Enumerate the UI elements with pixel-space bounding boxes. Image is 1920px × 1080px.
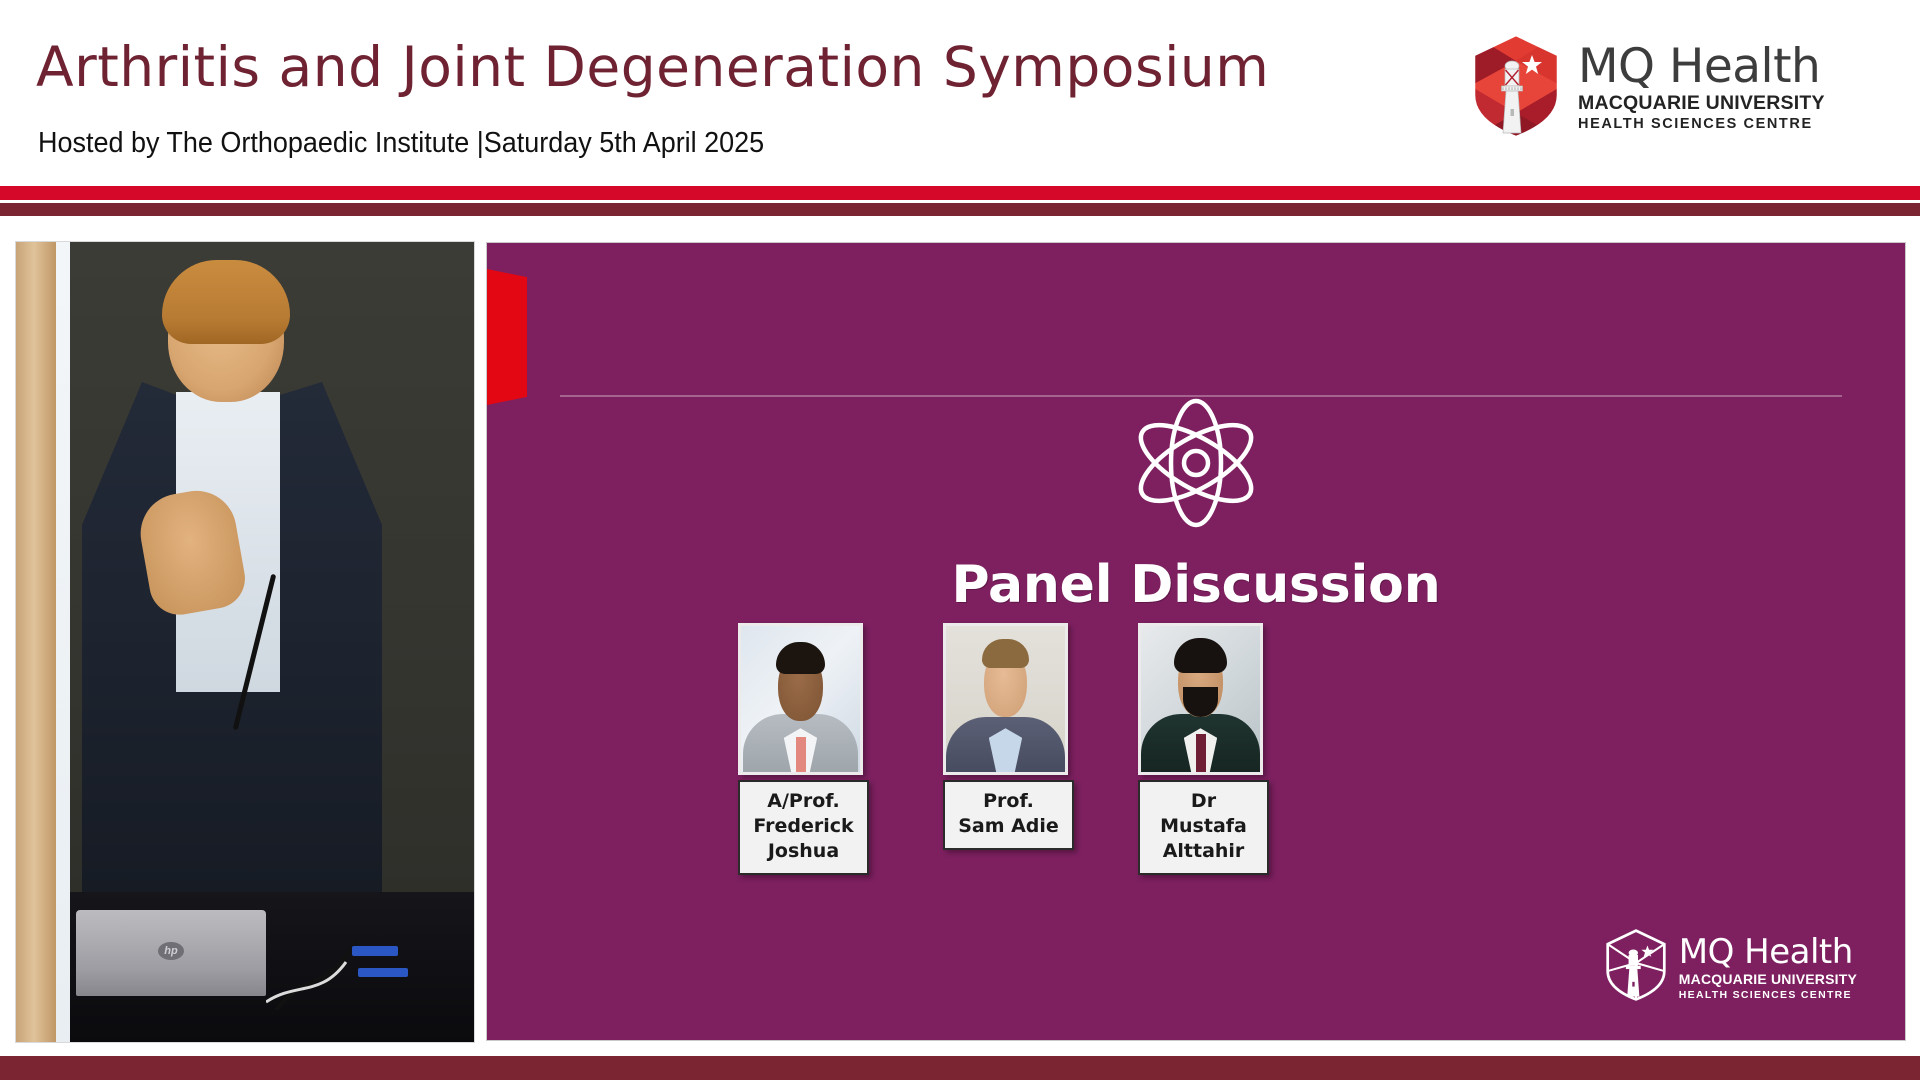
- mq-health-logo-line3: HEALTH SCIENCES CENTRE: [1679, 988, 1857, 1002]
- mq-health-logo-header: MQ Health MACQUARIE UNIVERSITY HEALTH SC…: [1470, 33, 1890, 143]
- speaker-list: A/Prof. Frederick Joshua Prof. Sam Adie: [487, 623, 1905, 923]
- mq-health-wordmark: MQ Health MACQUARIE UNIVERSITY HEALTH SC…: [1679, 934, 1857, 1002]
- headshot-mustafa-alttahir: [1138, 623, 1263, 775]
- slide-canvas: Arthritis and Joint Degeneration Symposi…: [0, 0, 1920, 1080]
- cable-bundle-decor: [266, 922, 416, 1012]
- presenter-hair: [162, 260, 290, 344]
- speaker-name: Prof. Sam Adie: [943, 780, 1074, 850]
- slide-content-panel[interactable]: Panel Discussion A/Prof. Frederick Joshu…: [487, 243, 1905, 1040]
- speaker-card[interactable]: A/Prof. Frederick Joshua: [738, 623, 869, 875]
- mq-health-wordmark: MQ Health MACQUARIE UNIVERSITY HEALTH SC…: [1578, 42, 1825, 134]
- mq-health-logo-line2: MACQUARIE UNIVERSITY: [1679, 971, 1857, 988]
- laptop-device: hp: [76, 910, 266, 996]
- headshot-sam-adie: [943, 623, 1068, 775]
- speaker-name: A/Prof. Frederick Joshua: [738, 780, 869, 875]
- hp-logo-icon: hp: [158, 942, 184, 960]
- slide-title: Panel Discussion: [487, 555, 1905, 615]
- mq-health-logo-name: MQ Health: [1578, 42, 1825, 92]
- page-title: Arthritis and Joint Degeneration Symposi…: [36, 36, 1269, 98]
- divider-maroon-bar: [0, 203, 1920, 216]
- speaker-card[interactable]: Prof. Sam Adie: [943, 623, 1074, 850]
- footer-maroon-bar: [0, 1056, 1920, 1080]
- red-triangle-accent-icon: [487, 269, 527, 405]
- mq-health-logo-line2: MACQUARIE UNIVERSITY: [1578, 92, 1825, 115]
- mq-health-logo-name: MQ Health: [1679, 934, 1857, 971]
- headshot-frederick-joshua: [738, 623, 863, 775]
- wood-panel-decor: [16, 242, 56, 1042]
- window-light-strip: [56, 242, 70, 1042]
- mq-health-logo-slide: MQ Health MACQUARIE UNIVERSITY HEALTH SC…: [1605, 929, 1857, 1006]
- atom-icon: [1126, 393, 1266, 533]
- mq-health-logo-line3: HEALTH SCIENCES CENTRE: [1578, 115, 1825, 134]
- header-band: Arthritis and Joint Degeneration Symposi…: [0, 0, 1920, 186]
- speaker-card[interactable]: Dr Mustafa Alttahir: [1138, 623, 1269, 875]
- presenter-video-feed[interactable]: hp: [16, 242, 474, 1042]
- divider-red-bar: [0, 186, 1920, 200]
- macquarie-lighthouse-shield-icon: [1470, 33, 1562, 144]
- speaker-name: Dr Mustafa Alttahir: [1138, 780, 1269, 875]
- macquarie-lighthouse-shield-icon: [1605, 929, 1667, 1006]
- event-subtitle: Hosted by The Orthopaedic Institute |Sat…: [38, 126, 764, 160]
